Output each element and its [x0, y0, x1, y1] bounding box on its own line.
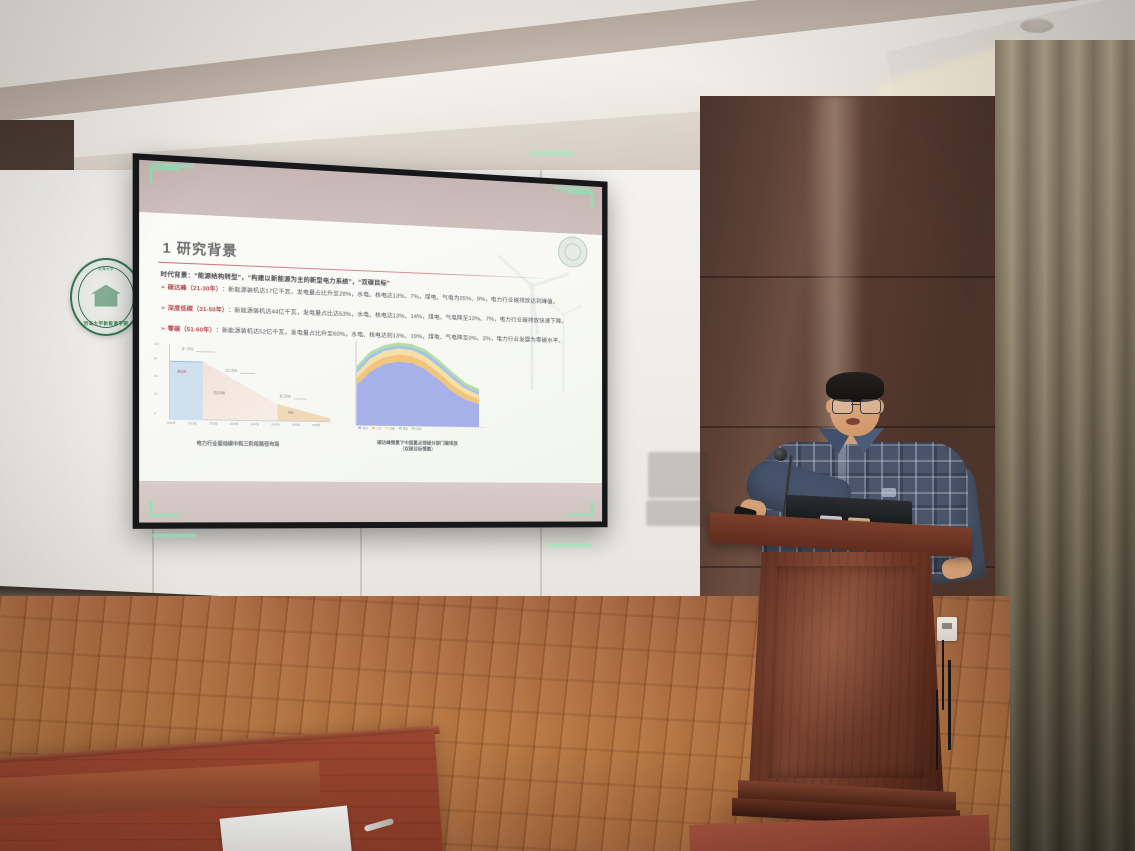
bullet-highlight: 零碳（51-60年） [168, 326, 216, 334]
x-tick: 2020年 [167, 421, 176, 425]
wall-outlet[interactable] [937, 617, 957, 641]
legend-item: 交通 [385, 426, 394, 430]
slide-content: 1 研究背景 时代背景：“能源结构转型”，“构建以新能源为主的新型电力系统”，“… [139, 212, 602, 483]
shirt-pocket-logo [882, 488, 896, 497]
chart-sector-emissions: 电力 工业 交通 建筑 其他 [342, 341, 490, 439]
downlight-icon [1020, 18, 1054, 33]
stage-1-area [170, 361, 203, 421]
legend-item: 建筑 [398, 426, 407, 430]
align-corner-icon [567, 191, 593, 208]
bullet-highlight: 碳达峰（21-30年） [168, 285, 222, 293]
emblem-building-icon [91, 285, 121, 307]
bullet-marker-icon: ➢ [160, 305, 165, 311]
x-tick: 2030年 [209, 421, 218, 425]
stage-name: 零碳 [288, 410, 294, 414]
align-corner-icon [567, 500, 593, 515]
projection-screen[interactable]: 1 研究背景 时代背景：“能源结构转型”，“构建以新能源为主的新型电力系统”，“… [133, 153, 608, 529]
university-emblem: 河海大学 河海大学新能源学院 [70, 258, 142, 336]
bullet-marker-icon: ➢ [160, 326, 165, 332]
legend-item: 工业 [372, 426, 381, 430]
stage-label: 第一阶段 [182, 347, 194, 351]
screen-surface: 1 研究背景 时代背景：“能源结构转型”，“构建以新能源为主的新型电力系统”，“… [139, 160, 602, 523]
align-bar-icon [548, 544, 592, 547]
align-corner-icon [150, 167, 180, 185]
x-tick: 2055年 [312, 423, 320, 427]
align-bar-icon [152, 534, 196, 537]
x-tick: 2040年 [251, 422, 260, 426]
legend-item: 其他 [412, 426, 421, 430]
x-tick: 2050年 [292, 423, 301, 427]
power-cable [936, 690, 952, 770]
curtain-shading [995, 40, 1135, 851]
presenter-hair [826, 372, 884, 402]
emblem-bottom-text: 河海大学新能源学院 [72, 321, 140, 327]
chart-legend: 电力 工业 交通 建筑 其他 [358, 426, 490, 432]
chair [646, 500, 712, 526]
bullet-highlight: 深度低碳（31-50年） [168, 306, 229, 314]
align-corner-icon [150, 500, 180, 517]
chair [648, 452, 708, 498]
legend-item: 电力 [358, 426, 368, 430]
stage-name: 碳达峰 [177, 369, 186, 373]
glasses-icon [832, 399, 879, 412]
emblem-top-text: 河海大学 [72, 267, 140, 272]
x-tick: 2025年 [188, 421, 197, 425]
projection-letterbox-bottom [139, 479, 602, 523]
align-bar-icon [530, 152, 574, 155]
stage-label: 第三阶段 [279, 394, 290, 398]
slide-title: 1 研究背景 [163, 236, 238, 260]
conference-room-photo: 河海大学 河海大学新能源学院 [0, 0, 1135, 851]
x-tick: 2045年 [271, 422, 280, 426]
podium-front-panel [768, 566, 924, 778]
presenter-mouth [846, 418, 860, 425]
bullet-marker-icon: ➢ [160, 285, 165, 291]
stage-label: 第二阶段 [226, 368, 238, 372]
chart-right-caption: 碳达峰情景下中国重点领域分部门碳排放 （双碳目标情景） [336, 439, 497, 453]
slide-university-seal [558, 236, 587, 268]
x-tick: 2035年 [230, 422, 239, 426]
chart-three-stage-pathway: 120 90 60 30 0 第一阶段 碳达峰 第二阶段 深度低碳 第三阶段 零… [154, 344, 332, 436]
chart-left-caption: 电力行业驱动碳中和三阶段路径布局 [146, 439, 329, 448]
microphone-icon[interactable] [774, 448, 787, 461]
stage-name: 深度低碳 [213, 391, 225, 395]
stage-3-area [277, 404, 330, 421]
chart-right-caption-line2: （双碳目标情景） [336, 446, 497, 454]
